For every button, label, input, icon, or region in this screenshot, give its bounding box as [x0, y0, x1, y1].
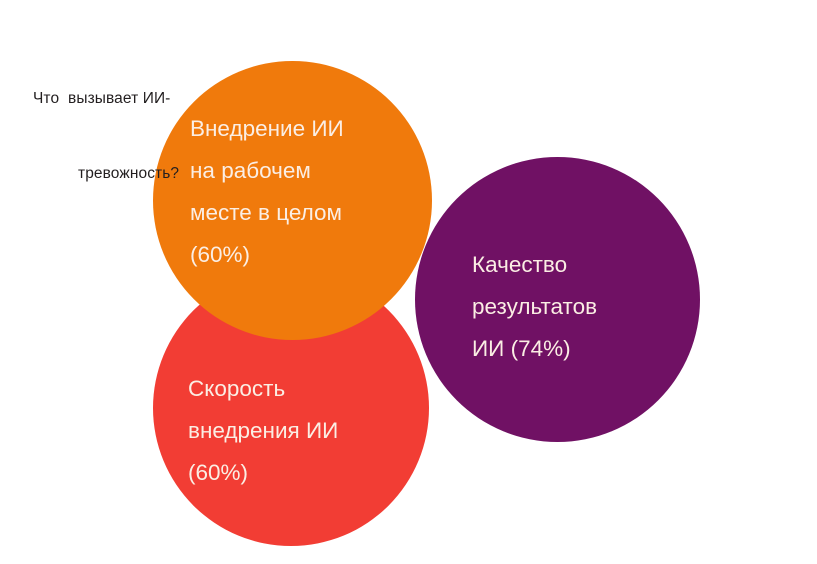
page-title: Что вызывает ИИ- тревожность?: [33, 36, 283, 236]
bubble-label-speed-of-ai-adoption: Скорость внедрения ИИ (60%): [188, 368, 418, 494]
bubble-label-quality-of-ai-results: Качество результатов ИИ (74%): [472, 244, 682, 370]
slide-canvas: Что вызывает ИИ- тревожность? Скорость в…: [0, 0, 817, 564]
page-title-line-1: Что вызывает ИИ-: [33, 86, 283, 111]
page-title-line-2: тревожность?: [33, 161, 283, 186]
